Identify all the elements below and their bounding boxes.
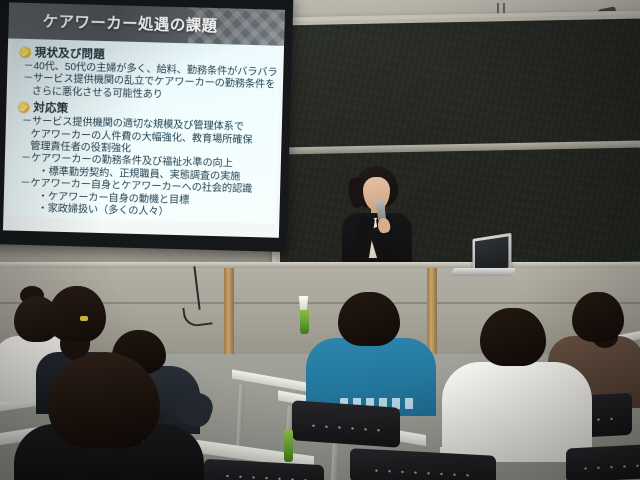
- drink-bottle: [300, 308, 309, 334]
- presentation-slide: ケアワーカー処遇の課題 現状及び問題 －40代、50代の主婦が多く、給料、勤務条…: [3, 2, 285, 237]
- lecture-hall-photo: ケアワーカー処遇の課題 現状及び問題 －40代、50代の主婦が多く、給料、勤務条…: [0, 0, 640, 480]
- slide-body: 現状及び問題 －40代、50代の主婦が多く、給料、勤務条件がバラバラ －サービス…: [7, 39, 280, 224]
- lectern-post-right: [427, 268, 437, 354]
- gold-check-icon: [18, 101, 29, 112]
- gold-check-icon: [20, 46, 31, 57]
- chair-back: [292, 400, 400, 448]
- slide-section-heading-2-label: 対応策: [33, 99, 69, 116]
- slide-section-heading-1-label: 現状及び問題: [35, 44, 106, 62]
- drink-bottle: [284, 430, 293, 462]
- lectern-top-edge: [0, 262, 640, 268]
- audience-hair: [338, 292, 400, 346]
- audience-hair: [572, 292, 624, 342]
- lectern-post-left: [224, 268, 234, 354]
- laptop-keyboard[interactable]: [450, 268, 516, 276]
- hair-clip-icon: [80, 316, 88, 321]
- chair-back: [566, 443, 640, 480]
- blackboard: [272, 10, 640, 277]
- slide-title: ケアワーカー処遇の課題: [42, 9, 217, 36]
- projection-screen: ケアワーカー処遇の課題 現状及び問題 －40代、50代の主婦が多く、給料、勤務条…: [0, 0, 293, 252]
- audience-body: [442, 362, 592, 462]
- audience-hair: [48, 286, 106, 342]
- audience-hair: [480, 308, 546, 366]
